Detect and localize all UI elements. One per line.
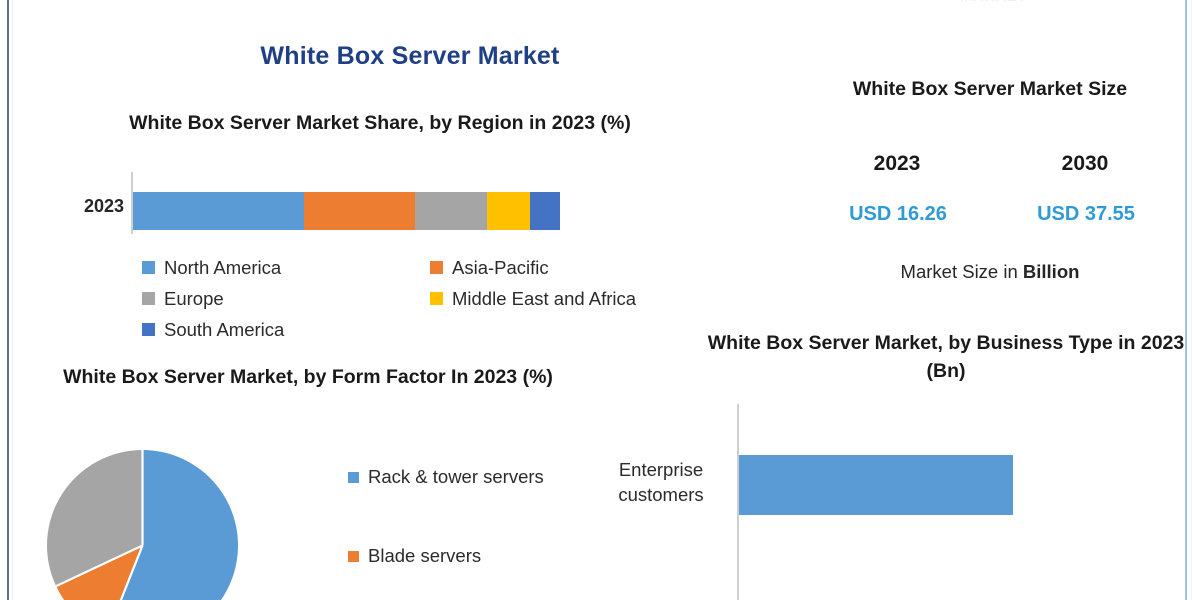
region-segment-middle-east-and-africa: [487, 192, 530, 230]
legend-swatch-icon: [430, 261, 443, 274]
legend-item-middle-east-and-africa: Middle East and Africa: [430, 288, 702, 310]
legend-item-rack-and-tower-servers: Rack & tower servers: [348, 466, 598, 488]
legend-label: Rack & tower servers: [368, 466, 544, 488]
market-size-value-2030: USD 37.55: [1001, 203, 1171, 226]
market-size-year-2023: 2023: [812, 152, 982, 176]
legend-item-europe: Europe: [142, 288, 430, 310]
legend-item-asia-pacific: Asia-Pacific: [430, 257, 702, 279]
legend-swatch-icon: [348, 551, 359, 562]
region-chart-category-label: 2023: [52, 196, 124, 217]
legend-swatch-icon: [142, 261, 155, 274]
region-segment-north-america: [133, 192, 304, 230]
market-size-year-2030: 2030: [1000, 152, 1170, 176]
region-stacked-bar: [133, 192, 560, 230]
legend-label: Blade servers: [368, 545, 481, 567]
region-segment-south-america: [530, 192, 560, 230]
legend-item-north-america: North America: [142, 257, 430, 279]
clipped-top-text: MARKET: [960, 0, 1080, 5]
legend-label: Asia-Pacific: [452, 257, 549, 279]
legend-item-south-america: South America: [142, 319, 430, 341]
page-title: White Box Server Market: [0, 42, 820, 71]
market-size-title: White Box Server Market Size: [790, 76, 1190, 104]
market-size-caption: Market Size in Billion: [790, 261, 1190, 283]
market-size-value-2023: USD 16.26: [813, 203, 983, 226]
business-type-category-label: Enterprise customers: [600, 458, 722, 508]
market-size-caption-prefix: Market Size in: [901, 261, 1023, 282]
region-chart-legend: North America Asia-Pacific Europe Middle…: [142, 252, 702, 345]
legend-label: Europe: [164, 288, 224, 310]
infographic-canvas: MARKET White Box Server Market White Box…: [0, 0, 1200, 600]
region-segment-europe: [415, 192, 488, 230]
legend-swatch-icon: [430, 292, 443, 305]
legend-swatch-icon: [142, 292, 155, 305]
legend-swatch-icon: [348, 472, 359, 483]
legend-label: North America: [164, 257, 281, 279]
business-type-chart-title: White Box Server Market, by Business Typ…: [700, 330, 1192, 385]
left-frame-rule: [7, 0, 9, 600]
region-chart-title: White Box Server Market Share, by Region…: [90, 110, 670, 138]
form-factor-pie-chart: [47, 450, 238, 600]
legend-item-blade-servers: Blade servers: [348, 545, 598, 567]
legend-label: Middle East and Africa: [452, 288, 636, 310]
right-frame-rule-inner: [1191, 0, 1192, 600]
legend-label: South America: [164, 319, 284, 341]
region-segment-asia-pacific: [304, 192, 415, 230]
form-factor-chart-title: White Box Server Market, by Form Factor …: [18, 364, 598, 392]
left-frame-rule-inner: [12, 0, 13, 600]
market-size-caption-unit: Billion: [1023, 261, 1080, 282]
business-type-bar-enterprise-customers: [739, 455, 1013, 515]
legend-swatch-icon: [142, 323, 155, 336]
form-factor-chart-legend: Rack & tower servers Blade servers: [348, 466, 598, 567]
